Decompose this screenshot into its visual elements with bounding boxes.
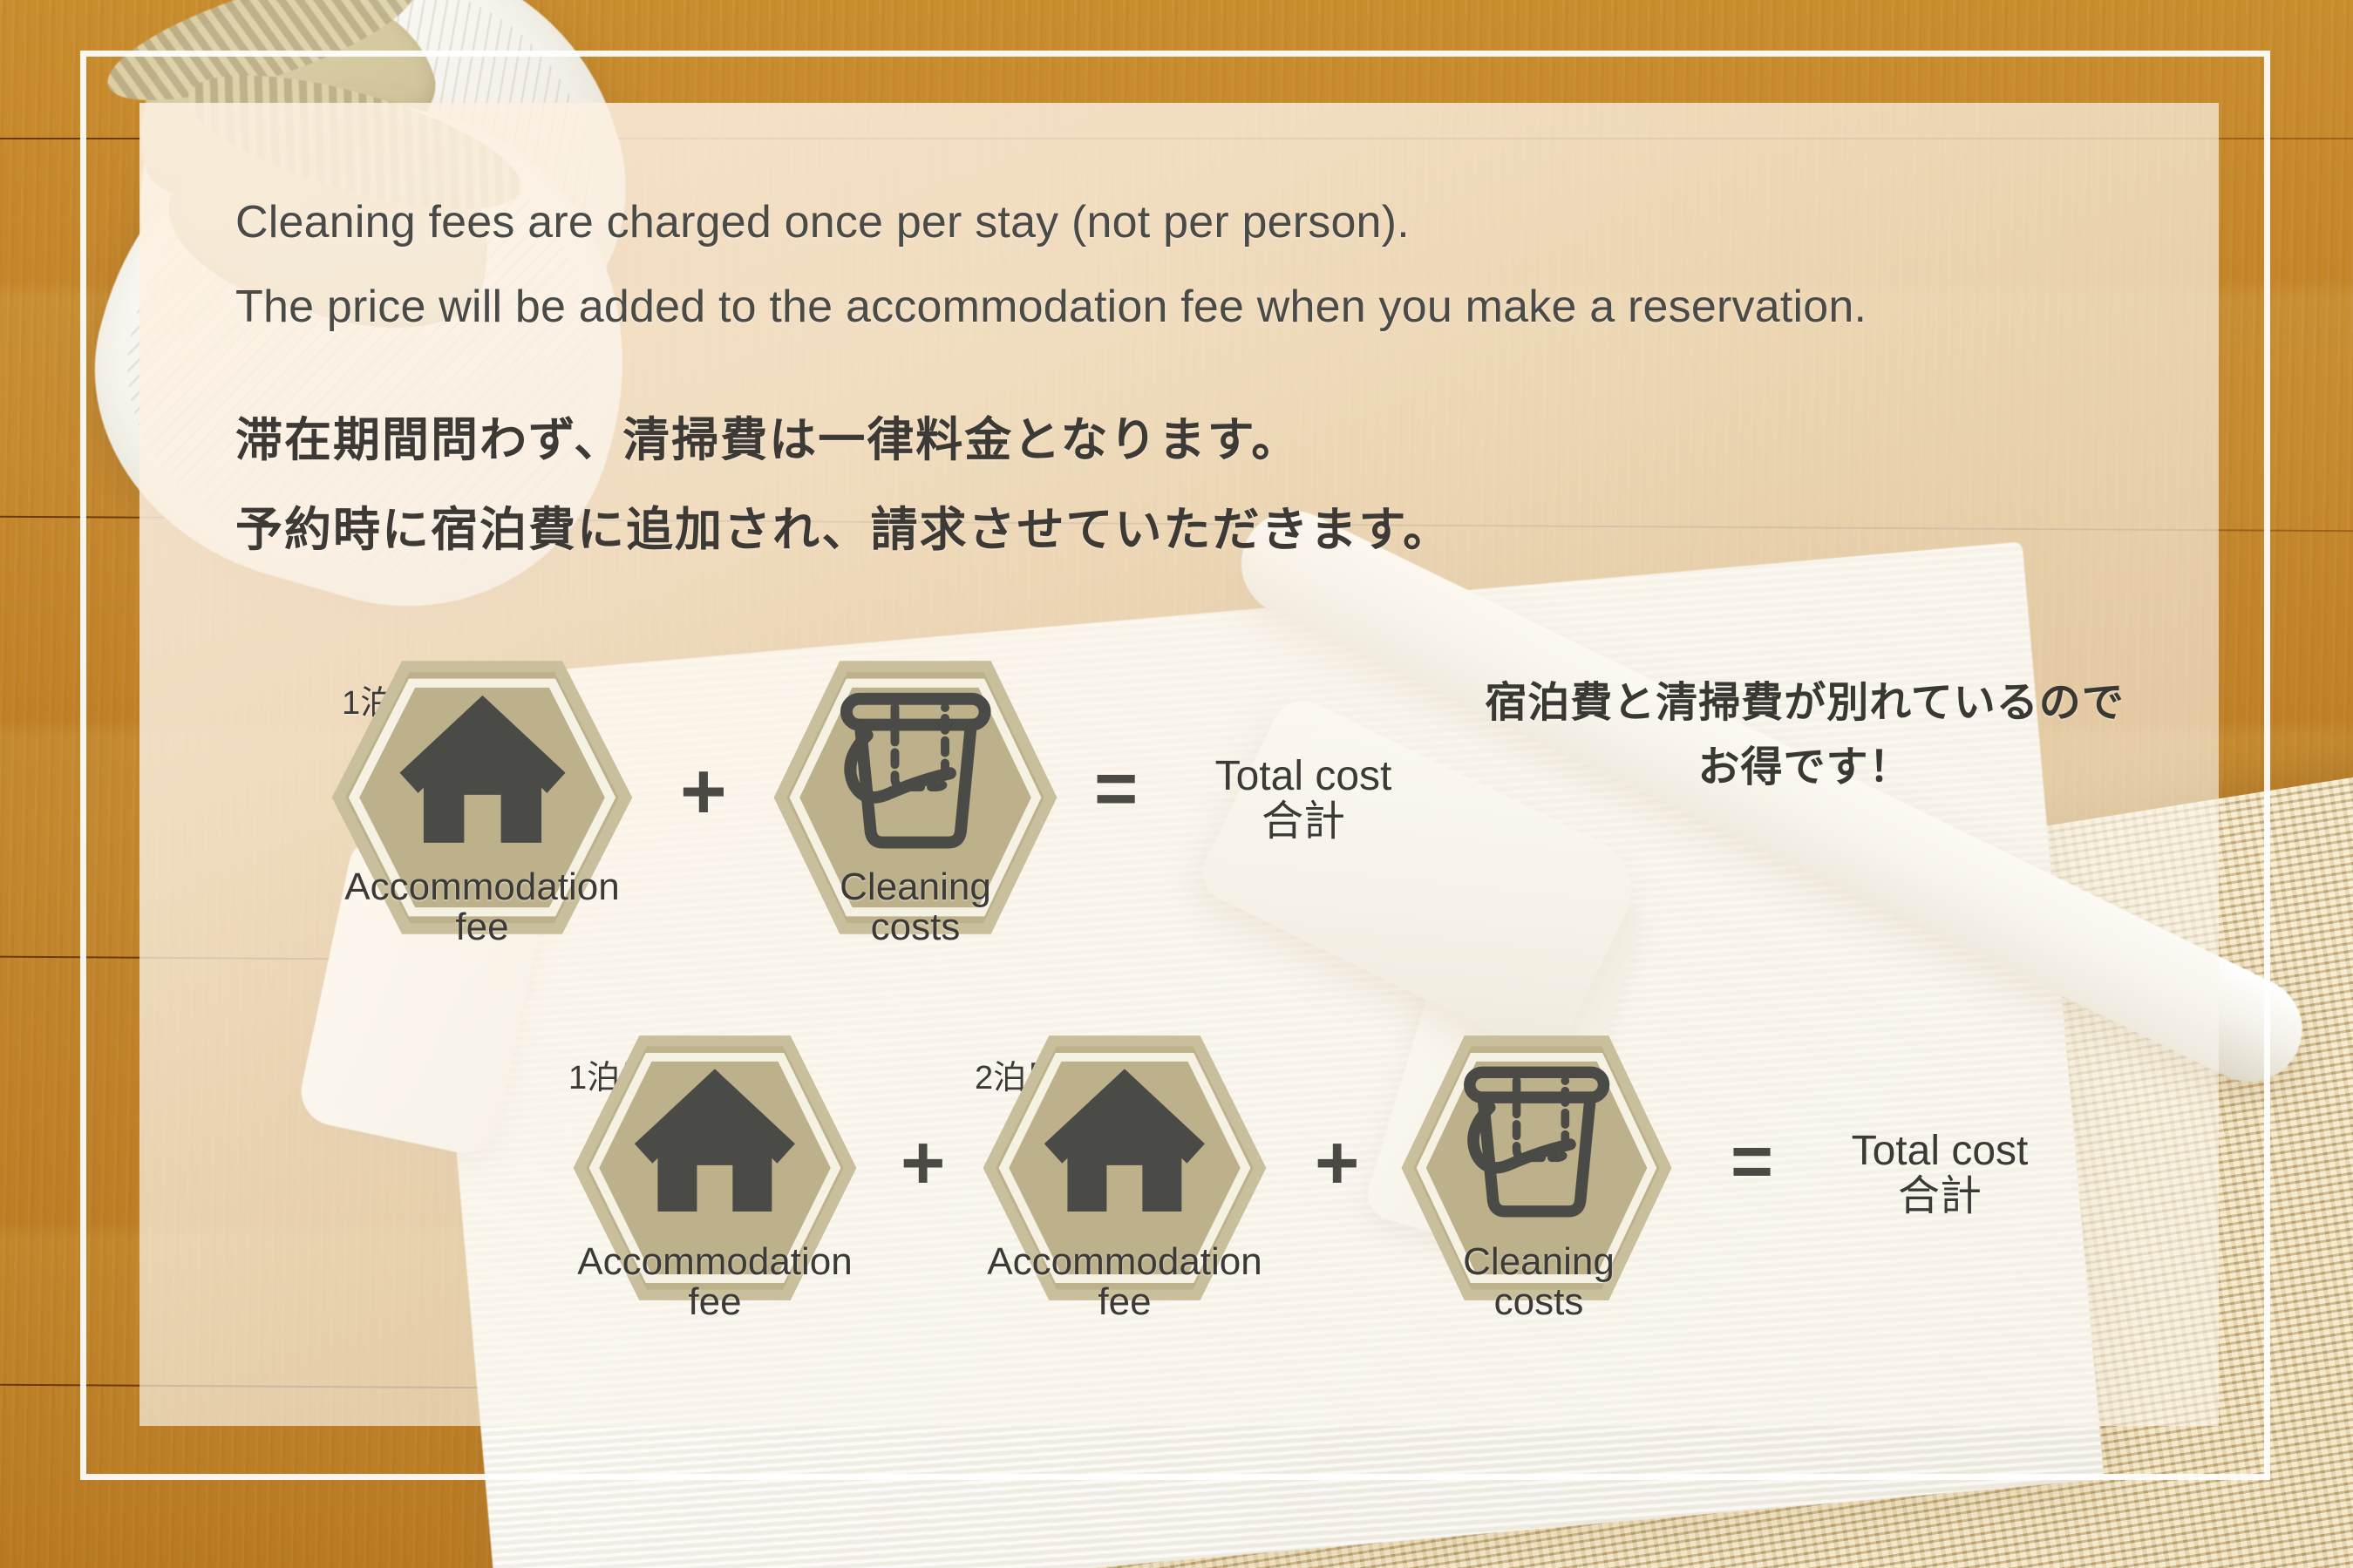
operator-plus-row1-1: + — [680, 751, 727, 832]
savings-note: 宿泊費と清掃費が別れているので お得です！ — [1412, 671, 2197, 801]
total-cost-row1: Total cost 合計 — [1159, 754, 1447, 845]
caption-accommodation-row2-night2: Accommodation fee — [907, 1242, 1343, 1322]
operator-equals-row1: = — [1094, 751, 1138, 826]
house-icon — [1030, 1055, 1220, 1233]
caption-line-1: Accommodation — [264, 867, 700, 907]
caption-line-2: costs — [697, 907, 1133, 947]
caption-cleaning-row1: Cleaning costs — [697, 867, 1133, 947]
caption-line-1: Accommodation — [907, 1242, 1343, 1282]
caption-line-1: Accommodation — [497, 1242, 933, 1282]
bucket-icon — [1452, 1057, 1622, 1225]
total-cost-english: Total cost — [1796, 1129, 2084, 1174]
total-cost-english: Total cost — [1159, 754, 1447, 799]
house-icon — [620, 1055, 810, 1233]
operator-equals-row2: = — [1731, 1124, 1773, 1198]
caption-line-2: fee — [497, 1282, 933, 1322]
total-cost-japanese: 合計 — [1159, 799, 1447, 845]
caption-line-2: fee — [907, 1282, 1343, 1322]
intro-english-line-1: Cleaning fees are charged once per stay … — [235, 196, 1410, 248]
caption-line-1: Cleaning — [1321, 1242, 1757, 1282]
caption-line-1: Cleaning — [697, 867, 1133, 907]
savings-note-line-2: お得です！ — [1412, 736, 2197, 800]
bucket-icon — [826, 683, 1005, 856]
caption-line-2: fee — [264, 907, 700, 947]
caption-cleaning-row2: Cleaning costs — [1321, 1242, 1757, 1322]
caption-line-2: costs — [1321, 1282, 1757, 1322]
savings-note-line-1: 宿泊費と清掃費が別れているので — [1412, 671, 2197, 736]
operator-plus-row2-2: + — [1315, 1124, 1359, 1201]
total-cost-row2: Total cost 合計 — [1796, 1129, 2084, 1219]
total-cost-japanese: 合計 — [1796, 1174, 2084, 1219]
house-icon — [382, 681, 583, 865]
caption-accommodation-row1: Accommodation fee — [264, 867, 700, 947]
caption-accommodation-row2-night1: Accommodation fee — [497, 1242, 933, 1322]
intro-japanese-line-2: 予約時に宿泊費に追加され、請求させていただきます。 — [235, 491, 1452, 560]
intro-english-line-2: The price will be added to the accommoda… — [235, 281, 1867, 333]
operator-plus-row2-1: + — [901, 1124, 945, 1201]
intro-japanese-line-1: 滞在期間問わず、清掃費は一律料金となります。 — [235, 401, 1300, 470]
